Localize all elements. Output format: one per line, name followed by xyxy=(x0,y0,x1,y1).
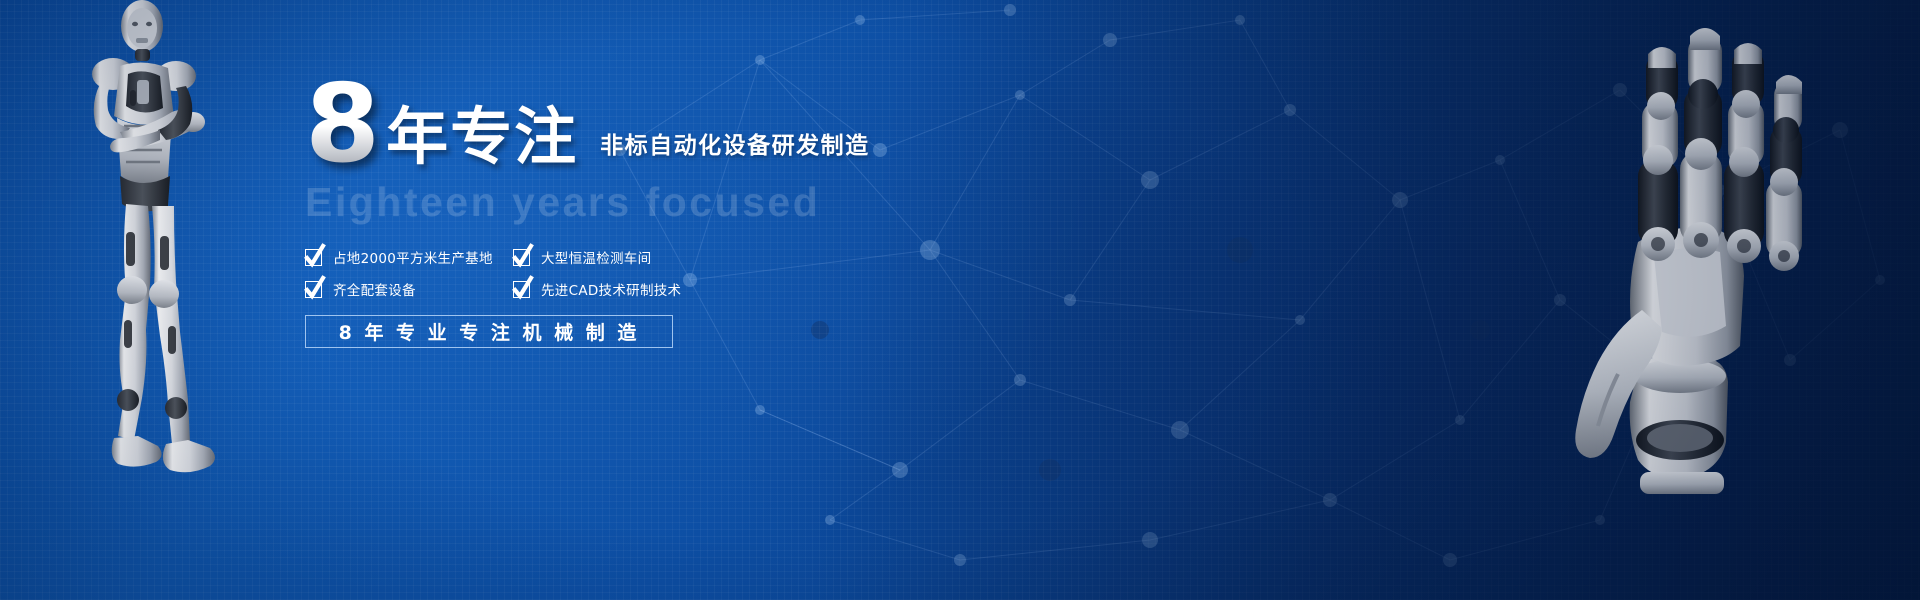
checkmark-icon xyxy=(305,281,322,298)
feature-item: 大型恒温检测车间 xyxy=(513,247,735,267)
checkmark-icon xyxy=(513,249,530,266)
feature-item: 占地2000平方米生产基地 xyxy=(305,247,513,267)
feature-label: 占地2000平方米生产基地 xyxy=(333,247,493,267)
headline-number: 8 xyxy=(305,75,386,174)
slogan-box: 8 年 专 业 专 注 机 械 制 造 xyxy=(305,315,673,348)
english-tagline: Eighteen years focused xyxy=(305,182,1065,223)
feature-list: 占地2000平方米生产基地 大型恒温检测车间 齐全配套设备 先进CAD技术研制技… xyxy=(305,247,735,299)
slogan-text: 8 年 专 业 专 注 机 械 制 造 xyxy=(339,318,640,345)
checkmark-icon xyxy=(305,249,322,266)
robotic-hand-figure xyxy=(1520,10,1900,500)
headline-subtitle: 非标自动化设备研发制造 xyxy=(578,126,870,174)
feature-label: 齐全配套设备 xyxy=(333,279,416,299)
feature-item: 齐全配套设备 xyxy=(305,279,513,299)
banner-content: 8 年专注 非标自动化设备研发制造 Eighteen years focused… xyxy=(305,78,1065,348)
hero-banner: 8 年专注 非标自动化设备研发制造 Eighteen years focused… xyxy=(0,0,1920,600)
humanoid-robot-figure xyxy=(60,0,270,500)
checkmark-icon xyxy=(513,281,530,298)
feature-item: 先进CAD技术研制技术 xyxy=(513,279,735,299)
feature-label: 先进CAD技术研制技术 xyxy=(541,279,681,299)
headline-row: 8 年专注 非标自动化设备研发制造 xyxy=(305,78,1065,174)
headline-chinese: 年专注 xyxy=(386,106,578,174)
feature-label: 大型恒温检测车间 xyxy=(541,247,651,267)
